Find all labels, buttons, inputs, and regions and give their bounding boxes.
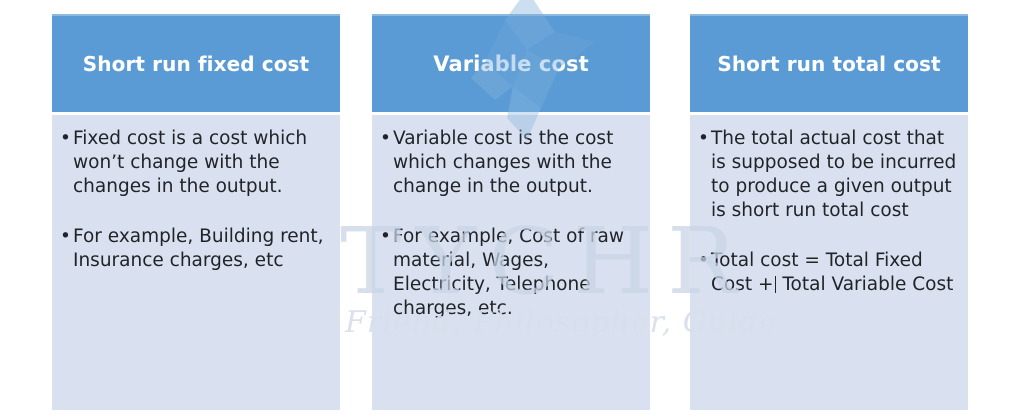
card-body-short-run-total-cost: • The total actual cost that is supposed… xyxy=(690,115,968,410)
bullet-dot-icon: • xyxy=(380,127,391,151)
list-item-text: Variable cost is the cost which changes … xyxy=(393,128,613,197)
card-variable-cost: Variable cost • Variable cost is the cos… xyxy=(372,14,650,410)
list-item: • For example, Cost of raw material, Wag… xyxy=(378,225,644,321)
card-body-variable-cost: • Variable cost is the cost which change… xyxy=(372,115,650,410)
list-item-text-continued: Total Variable Cost xyxy=(777,274,954,295)
bullet-list: • The total actual cost that is supposed… xyxy=(696,127,962,297)
text-cursor xyxy=(775,276,776,293)
list-item: • Total cost = Total Fixed Cost + Total … xyxy=(696,249,962,297)
bullet-dot-icon: • xyxy=(60,225,71,249)
bullet-dot-icon: • xyxy=(60,127,71,151)
bullet-dot-icon: • xyxy=(698,249,709,273)
card-header-short-run-fixed-cost: Short run fixed cost xyxy=(52,14,340,112)
list-item: • For example, Building rent, Insurance … xyxy=(58,225,334,273)
card-header-short-run-total-cost: Short run total cost xyxy=(690,14,968,112)
card-body-short-run-fixed-cost: • Fixed cost is a cost which won’t chang… xyxy=(52,115,340,410)
list-item: • Variable cost is the cost which change… xyxy=(378,127,644,199)
bullet-list: • Fixed cost is a cost which won’t chang… xyxy=(58,127,334,273)
list-item: • The total actual cost that is supposed… xyxy=(696,127,962,223)
list-item-text: Fixed cost is a cost which won’t change … xyxy=(73,128,307,197)
list-item-text: The total actual cost that is supposed t… xyxy=(711,128,956,221)
list-item-text: For example, Cost of raw material, Wages… xyxy=(393,226,624,319)
list-item: • Fixed cost is a cost which won’t chang… xyxy=(58,127,334,199)
card-short-run-fixed-cost: Short run fixed cost • Fixed cost is a c… xyxy=(52,14,340,410)
card-header-variable-cost: Variable cost xyxy=(372,14,650,112)
bullet-dot-icon: • xyxy=(698,127,709,151)
card-short-run-total-cost: Short run total cost • The total actual … xyxy=(690,14,968,410)
bullet-list: • Variable cost is the cost which change… xyxy=(378,127,644,321)
bullet-dot-icon: • xyxy=(380,225,391,249)
list-item-text: For example, Building rent, Insurance ch… xyxy=(73,226,324,271)
